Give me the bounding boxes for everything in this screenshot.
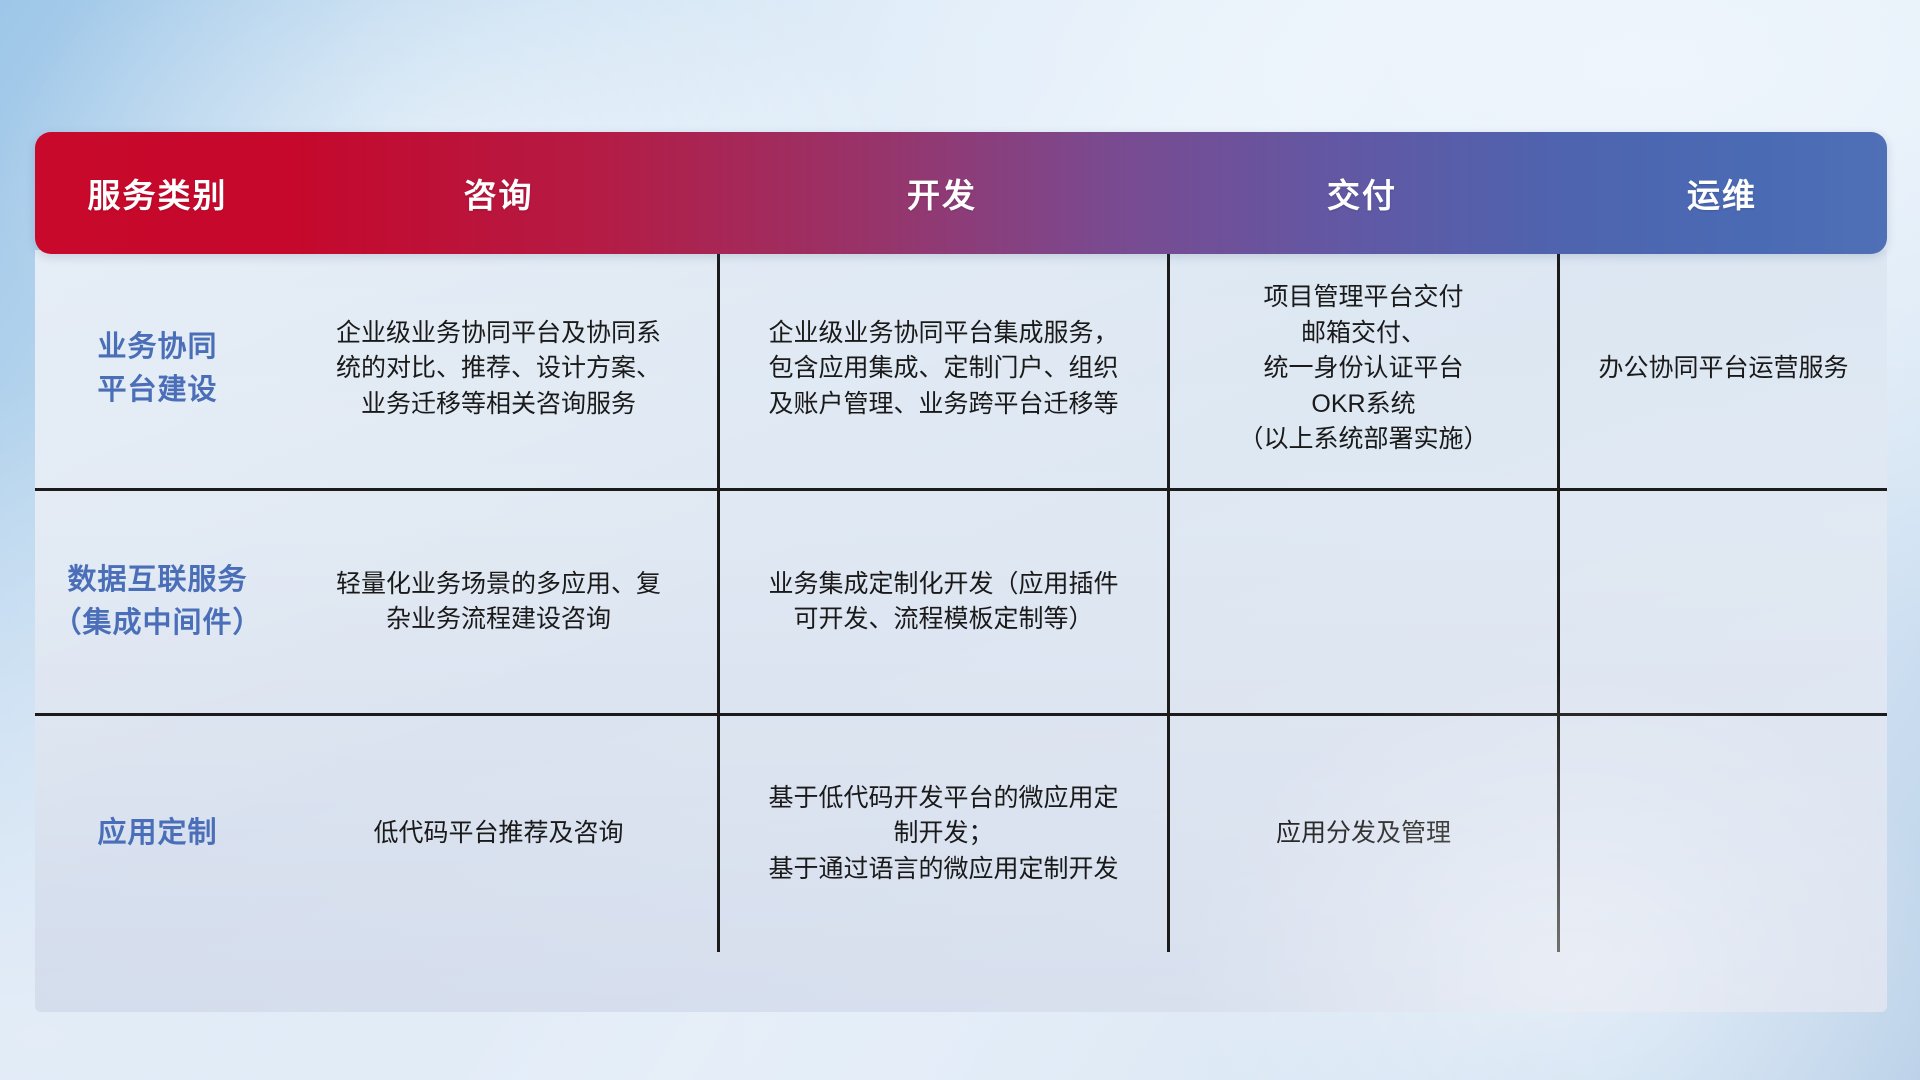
table-header-row: 服务类别 咨询 开发 交付 运维 xyxy=(35,132,1887,254)
table-row: 数据互联服务 （集成中间件） 轻量化业务场景的多应用、复 杂业务流程建设咨询 业… xyxy=(35,488,1887,713)
header-cell-operations: 运维 xyxy=(1557,132,1887,254)
cell-consulting: 轻量化业务场景的多应用、复 杂业务流程建设咨询 xyxy=(280,491,717,713)
header-label: 咨询 xyxy=(464,169,534,217)
cell-consulting: 低代码平台推荐及咨询 xyxy=(280,716,717,952)
header-label: 交付 xyxy=(1327,169,1397,217)
cell-delivery xyxy=(1167,491,1557,713)
cell-development: 企业级业务协同平台集成服务， 包含应用集成、定制门户、组织 及账户管理、业务跨平… xyxy=(717,250,1167,488)
service-matrix-table: 服务类别 咨询 开发 交付 运维 业务协同 平台建设 企业级业务协同平台及协同系… xyxy=(35,132,1887,1012)
cell-delivery: 应用分发及管理 xyxy=(1167,716,1557,952)
table-row: 业务协同 平台建设 企业级业务协同平台及协同系 统的对比、推荐、设计方案、 业务… xyxy=(35,250,1887,488)
header-label: 运维 xyxy=(1687,169,1757,217)
header-cell-service-category: 服务类别 xyxy=(35,132,280,254)
cell-operations xyxy=(1557,491,1887,713)
header-cell-consulting: 咨询 xyxy=(280,132,717,254)
table-body: 业务协同 平台建设 企业级业务协同平台及协同系 统的对比、推荐、设计方案、 业务… xyxy=(35,250,1887,1012)
page-root: 服务类别 咨询 开发 交付 运维 业务协同 平台建设 企业级业务协同平台及协同系… xyxy=(0,0,1920,1080)
row-label-business-collaboration: 业务协同 平台建设 xyxy=(35,250,280,488)
header-label: 开发 xyxy=(907,169,977,217)
cell-operations: 办公协同平台运营服务 xyxy=(1557,250,1887,488)
header-cell-development: 开发 xyxy=(717,132,1167,254)
cell-consulting: 企业级业务协同平台及协同系 统的对比、推荐、设计方案、 业务迁移等相关咨询服务 xyxy=(280,250,717,488)
cell-development: 业务集成定制化开发（应用插件 可开发、流程模板定制等） xyxy=(717,491,1167,713)
row-label-app-customization: 应用定制 xyxy=(35,716,280,952)
row-label-data-interconnect: 数据互联服务 （集成中间件） xyxy=(35,491,280,713)
cell-development: 基于低代码开发平台的微应用定 制开发； 基于通过语言的微应用定制开发 xyxy=(717,716,1167,952)
header-cell-delivery: 交付 xyxy=(1167,132,1557,254)
cell-delivery: 项目管理平台交付 邮箱交付、 统一身份认证平台 OKR系统 （以上系统部署实施） xyxy=(1167,250,1557,488)
cell-operations xyxy=(1557,716,1887,952)
table-row: 应用定制 低代码平台推荐及咨询 基于低代码开发平台的微应用定 制开发； 基于通过… xyxy=(35,713,1887,952)
header-label: 服务类别 xyxy=(88,169,228,217)
